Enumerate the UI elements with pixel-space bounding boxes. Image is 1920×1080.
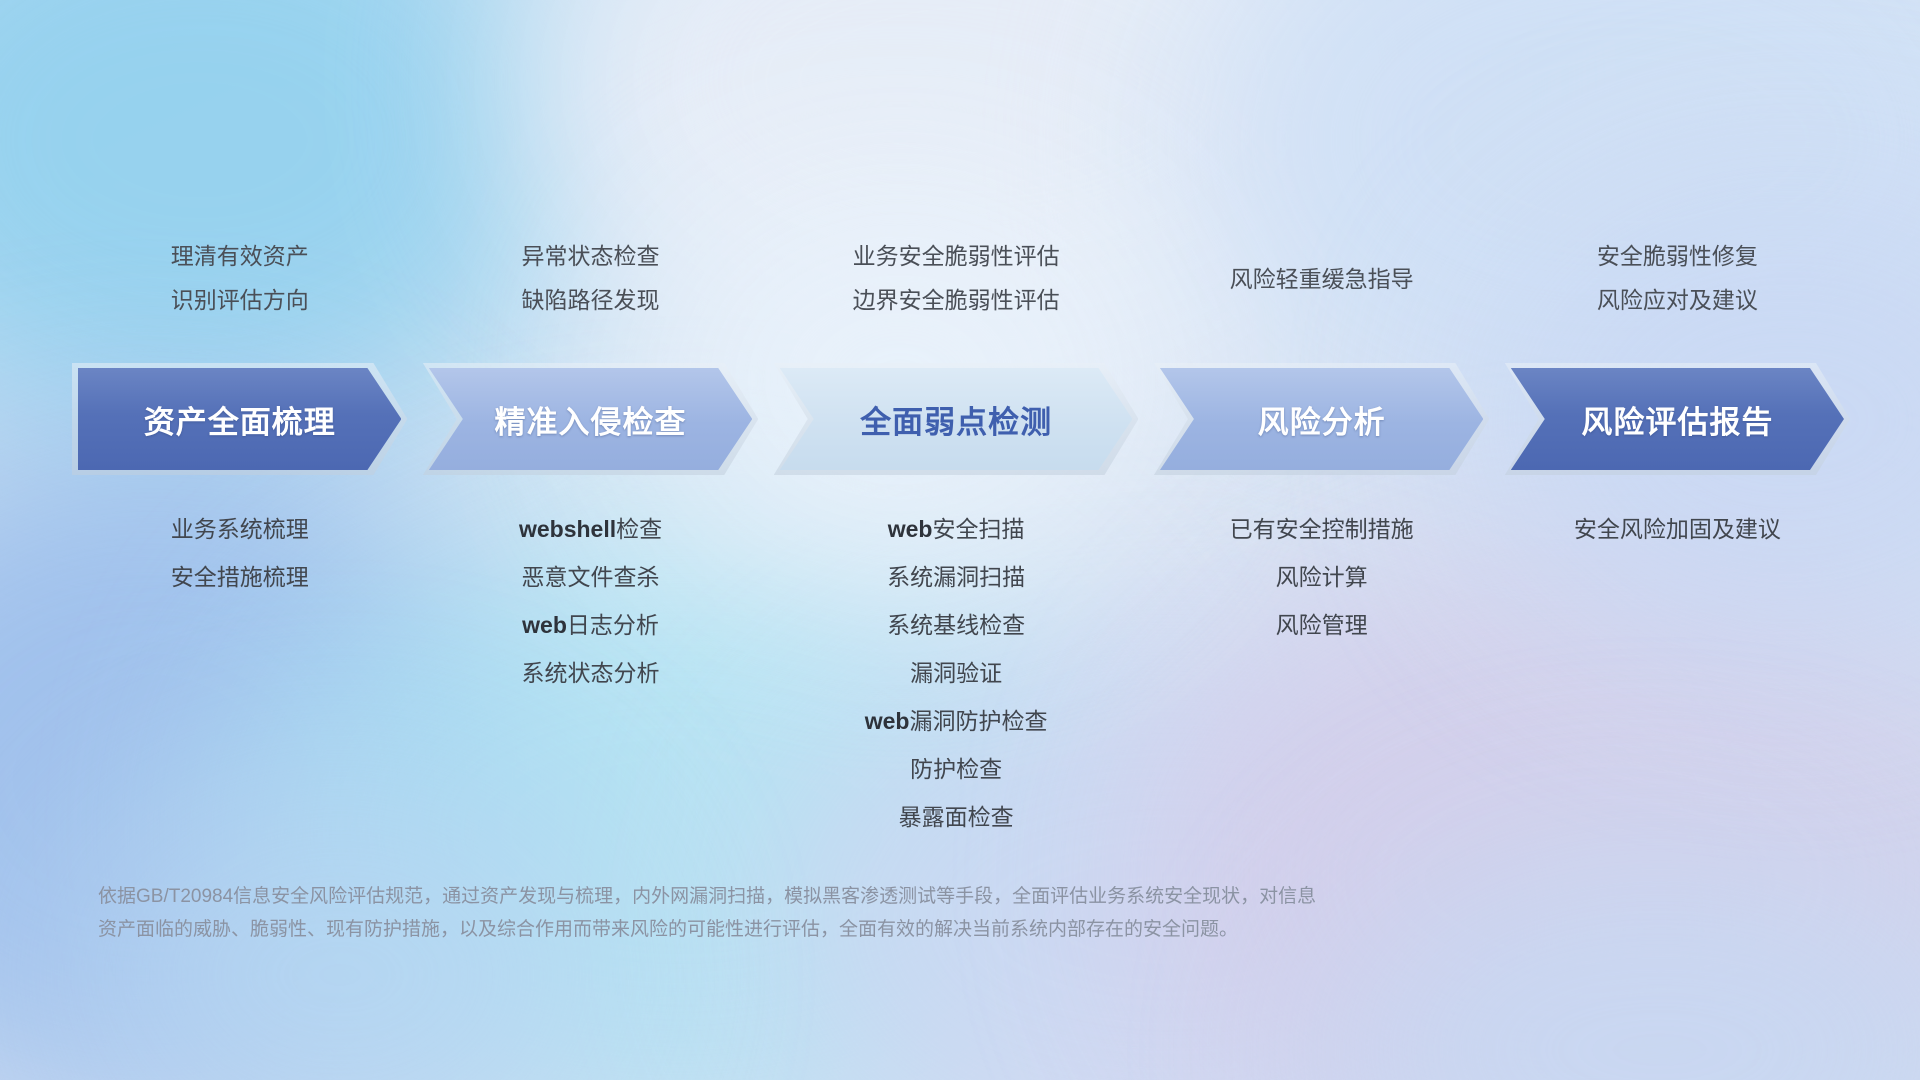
stage-arrow-intrusion-check[interactable]: 精准入侵检查 bbox=[429, 368, 752, 470]
stage-label-asset-inventory: 资产全面梳理 bbox=[144, 397, 336, 442]
stage-label-risk-report: 风险评估报告 bbox=[1581, 397, 1773, 442]
footer-line: 依据GB/T20984信息安全风险评估规范，通过资产发现与梳理，内外网漏洞扫描，… bbox=[98, 880, 1638, 913]
stage-arrow-band: 资产全面梳理精准入侵检查全面弱点检测风险分析风险评估报告 bbox=[78, 368, 1844, 470]
stage-bottom-item: 漏洞验证 bbox=[706, 662, 1206, 685]
stage-label-risk-analysis: 风险分析 bbox=[1258, 397, 1386, 442]
footer-description: 依据GB/T20984信息安全风险评估规范，通过资产发现与梳理，内外网漏洞扫描，… bbox=[98, 880, 1638, 946]
stage-label-weakness-detection: 全面弱点检测 bbox=[860, 397, 1052, 442]
stage-bottom-items-risk-report: 安全风险加固及建议 bbox=[1427, 518, 1920, 541]
footer-line: 资产面临的威胁、脆弱性、现有防护措施，以及综合作用而带来风险的可能性进行评估，全… bbox=[98, 913, 1638, 946]
stage-top-note: 风险应对及建议 bbox=[1427, 289, 1920, 312]
stage-bottom-item: 暴露面检查 bbox=[706, 806, 1206, 829]
stage-arrow-risk-analysis[interactable]: 风险分析 bbox=[1160, 368, 1483, 470]
stage-bottom-item: 风险管理 bbox=[1072, 614, 1572, 637]
stage-bottom-item: web漏洞防护检查 bbox=[706, 710, 1206, 733]
stage-top-notes-risk-report: 安全脆弱性修复风险应对及建议 bbox=[1427, 245, 1920, 312]
stage-bottom-item: 防护检查 bbox=[706, 758, 1206, 781]
stage-top-note: 业务安全脆弱性评估 bbox=[706, 245, 1206, 268]
stage-top-note: 边界安全脆弱性评估 bbox=[706, 289, 1206, 312]
stage-label-intrusion-check: 精准入侵检查 bbox=[495, 397, 687, 442]
stage-top-note: 安全脆弱性修复 bbox=[1427, 245, 1920, 268]
stage-arrow-risk-report[interactable]: 风险评估报告 bbox=[1511, 368, 1844, 470]
stage-bottom-item: 安全风险加固及建议 bbox=[1427, 518, 1920, 541]
stage-arrow-asset-inventory[interactable]: 资产全面梳理 bbox=[78, 368, 401, 470]
process-diagram: 理清有效资产识别评估方向异常状态检查缺陷路径发现业务安全脆弱性评估边界安全脆弱性… bbox=[0, 0, 1920, 1080]
stage-bottom-item: 风险计算 bbox=[1072, 566, 1572, 589]
stage-arrow-weakness-detection[interactable]: 全面弱点检测 bbox=[780, 368, 1133, 470]
